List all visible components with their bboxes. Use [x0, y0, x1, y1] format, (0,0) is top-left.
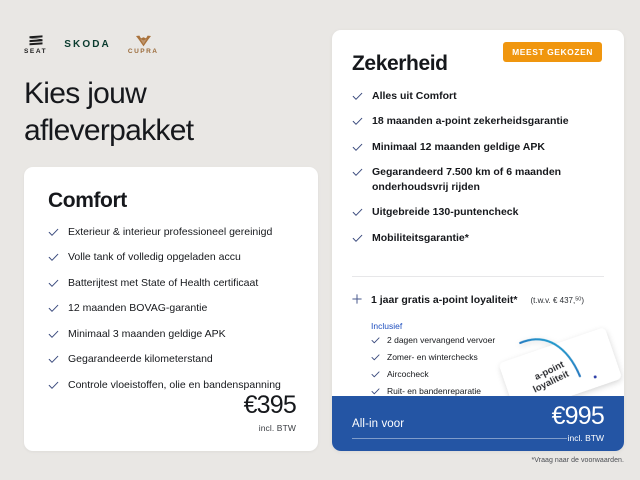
list-item: Exterieur & interieur professioneel gere… — [48, 225, 298, 239]
comfort-price: €395 — [244, 393, 296, 418]
check-icon — [352, 142, 363, 153]
zekerheid-feature-list: Alles uit Comfort 18 maanden a-point zek… — [352, 89, 610, 256]
check-icon — [352, 116, 363, 127]
comfort-card-heading: Comfort — [48, 189, 127, 213]
allin-label: All-in voor — [352, 418, 404, 430]
list-item-label: Aircocheck — [387, 369, 429, 380]
list-item: 12 maanden BOVAG-garantie — [48, 301, 298, 315]
zekerheid-card-heading: Zekerheid — [352, 52, 448, 76]
loyalty-value-prefix: (t.w.v. € 437, — [530, 296, 575, 305]
check-icon — [352, 233, 363, 244]
comfort-price-block: €395 incl. BTW — [244, 393, 296, 433]
list-item: Minimaal 12 maanden geldige APK — [352, 140, 610, 154]
brand-cupra-label: CUPRA — [128, 48, 159, 55]
list-item-label: Zomer- en winterchecks — [387, 352, 478, 363]
seat-logo-icon — [28, 35, 44, 47]
zekerheid-package-card: MEEST GEKOZEN Zekerheid Alles uit Comfor… — [332, 30, 624, 451]
section-divider — [352, 276, 604, 277]
check-icon — [48, 252, 59, 263]
list-item-label: Batterijtest met State of Health certifi… — [68, 276, 258, 290]
list-item: Zomer- en winterchecks — [371, 352, 546, 363]
plus-icon — [352, 294, 362, 304]
left-column: SEAT SKODA CUPRA Kies jouw afleverpakket… — [0, 0, 325, 480]
list-item-label: Minimaal 3 maanden geldige APK — [68, 327, 226, 341]
comfort-price-note: incl. BTW — [244, 423, 296, 433]
list-item: Mobiliteitsgarantie* — [352, 231, 610, 245]
list-item-label: Volle tank of volledig opgeladen accu — [68, 250, 241, 264]
footnote: *Vraag naar de voorwaarden. — [531, 457, 624, 464]
list-item: Aircocheck — [371, 369, 546, 380]
check-icon — [48, 380, 59, 391]
brand-seat: SEAT — [24, 35, 47, 56]
list-item: Gegarandeerd 7.500 km of 6 maanden onder… — [352, 165, 610, 194]
check-icon — [371, 336, 380, 345]
footer-underline — [352, 438, 567, 439]
list-item: Volle tank of volledig opgeladen accu — [48, 250, 298, 264]
skoda-wordmark-icon: SKODA — [64, 35, 111, 55]
list-item-label: Gegarandeerde kilometerstand — [68, 352, 213, 366]
loyalty-value-suffix: ) — [581, 296, 584, 305]
list-item-label: Gegarandeerd 7.500 km of 6 maanden onder… — [372, 165, 610, 194]
list-item-label: 2 dagen vervangend vervoer — [387, 335, 495, 346]
comfort-package-card: Comfort Exterieur & interieur profession… — [24, 167, 318, 451]
list-item: Minimaal 3 maanden geldige APK — [48, 327, 298, 341]
list-item: 2 dagen vervangend vervoer — [371, 335, 546, 346]
check-icon — [48, 303, 59, 314]
check-icon — [371, 370, 380, 379]
loyalty-offer-row: 1 jaar gratis a-point loyaliteit* (t.w.v… — [352, 293, 612, 306]
list-item-label: Uitgebreide 130-puntencheck — [372, 205, 518, 219]
loyalty-value: (t.w.v. € 437,50) — [530, 296, 584, 305]
list-item: 18 maanden a-point zekerheidsgarantie — [352, 114, 610, 128]
brand-skoda: SKODA — [64, 35, 111, 55]
cupra-logo-icon — [135, 35, 152, 47]
included-items-list: 2 dagen vervangend vervoer Zomer- en win… — [371, 335, 546, 403]
check-icon — [352, 91, 363, 102]
list-item: Gegarandeerde kilometerstand — [48, 352, 298, 366]
included-label: Inclusief — [371, 321, 402, 331]
check-icon — [371, 387, 380, 396]
check-icon — [48, 354, 59, 365]
loyalty-title: 1 jaar gratis a-point loyaliteit* — [371, 294, 517, 306]
allin-price-footer: All-in voor €995 incl. BTW — [332, 396, 624, 451]
list-item-label: Minimaal 12 maanden geldige APK — [372, 140, 545, 154]
list-item: Uitgebreide 130-puntencheck — [352, 205, 610, 219]
list-item-label: Alles uit Comfort — [372, 89, 457, 103]
brand-cupra: CUPRA — [128, 35, 159, 56]
status-badge: MEEST GEKOZEN — [503, 42, 602, 62]
list-item: Alles uit Comfort — [352, 89, 610, 103]
check-icon — [48, 227, 59, 238]
brand-seat-label: SEAT — [24, 48, 47, 55]
list-item-label: 18 maanden a-point zekerheidsgarantie — [372, 114, 569, 128]
allin-price: €995 — [552, 404, 604, 429]
list-item-label: Exterieur & interieur professioneel gere… — [68, 225, 272, 239]
comfort-feature-list: Exterieur & interieur professioneel gere… — [48, 225, 298, 403]
check-icon — [352, 167, 363, 178]
check-icon — [352, 207, 363, 218]
check-icon — [371, 353, 380, 362]
list-item-label: Mobiliteitsgarantie* — [372, 231, 469, 245]
list-item-label: 12 maanden BOVAG-garantie — [68, 301, 207, 315]
page-title: Kies jouw afleverpakket — [24, 76, 304, 149]
check-icon — [48, 329, 59, 340]
brand-logo-bar: SEAT SKODA CUPRA — [24, 33, 159, 55]
list-item: Batterijtest met State of Health certifi… — [48, 276, 298, 290]
check-icon — [48, 278, 59, 289]
